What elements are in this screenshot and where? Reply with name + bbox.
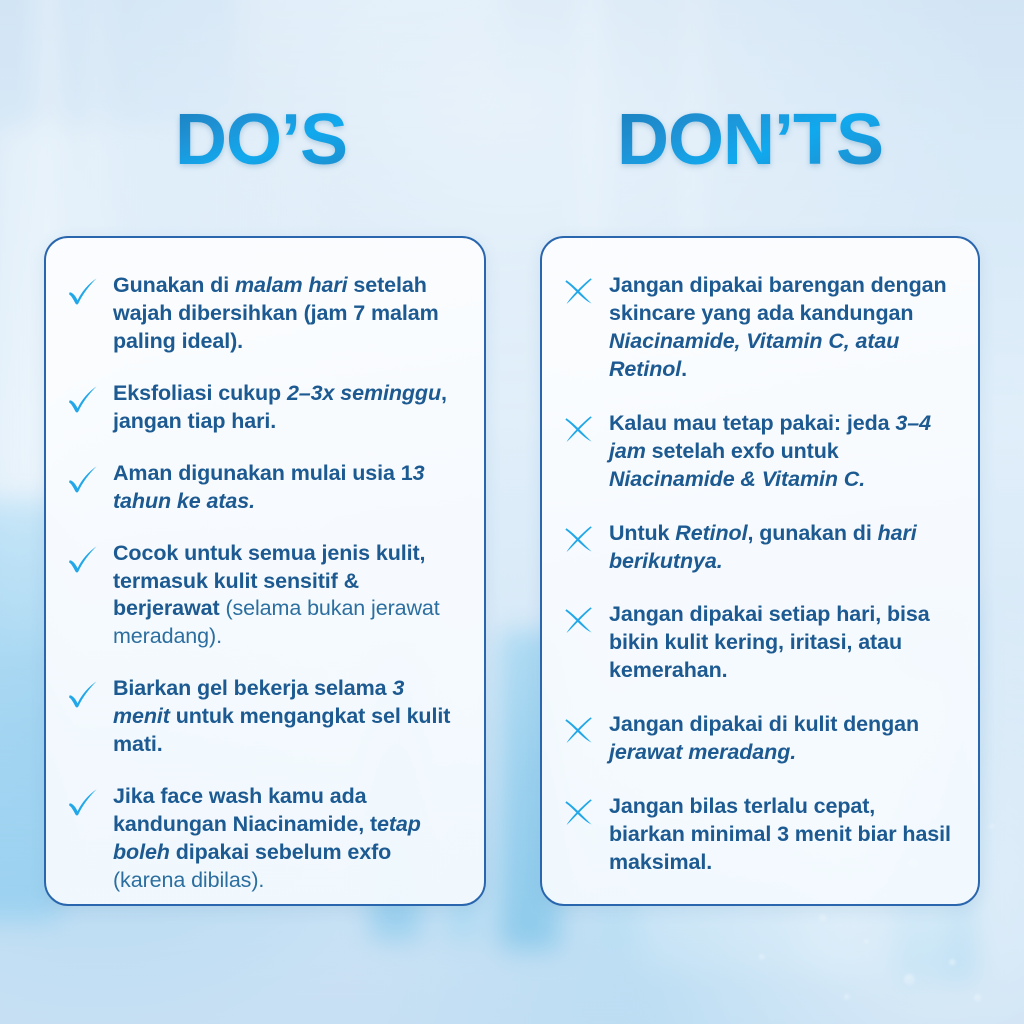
list-item: Jangan bilas terlalu cepat, biarkan mini… — [562, 793, 952, 877]
list-item: Gunakan di malam hari setelah wajah dibe… — [66, 272, 458, 356]
list-item-text: Jangan dipakai barengan dengan skincare … — [609, 272, 952, 384]
donts-heading: DON’TS — [617, 104, 883, 176]
check-icon — [66, 382, 100, 416]
cross-icon — [562, 412, 596, 446]
list-item: Jika face wash kamu ada kandungan Niacin… — [66, 783, 458, 895]
list-item: Biarkan gel bekerja selama 3 menit untuk… — [66, 675, 458, 759]
list-item: Cocok untuk semua jenis kulit, termasuk … — [66, 540, 458, 652]
list-item: Untuk Retinol, gunakan di hari berikutny… — [562, 520, 952, 576]
cross-icon — [562, 603, 596, 637]
cross-icon — [562, 274, 596, 308]
list-item: Jangan dipakai di kulit dengan jerawat m… — [562, 711, 952, 767]
check-icon — [66, 677, 100, 711]
list-item-text: Jangan dipakai di kulit dengan jerawat m… — [609, 711, 952, 767]
list-item-text: Gunakan di malam hari setelah wajah dibe… — [113, 272, 458, 356]
dos-heading: DO’S — [175, 104, 347, 176]
donts-card: Jangan dipakai barengan dengan skincare … — [540, 236, 980, 906]
list-item-text: Jangan dipakai setiap hari, bisa bikin k… — [609, 601, 952, 685]
list-item-text: Jangan bilas terlalu cepat, biarkan mini… — [609, 793, 952, 877]
donts-list: Jangan dipakai barengan dengan skincare … — [562, 272, 952, 903]
list-item: Jangan dipakai setiap hari, bisa bikin k… — [562, 601, 952, 685]
list-item-text: Cocok untuk semua jenis kulit, termasuk … — [113, 540, 458, 652]
list-item: Kalau mau tetap pakai: jeda 3–4 jam sete… — [562, 410, 952, 494]
cross-icon — [562, 795, 596, 829]
list-item-text: Kalau mau tetap pakai: jeda 3–4 jam sete… — [609, 410, 952, 494]
cross-icon — [562, 713, 596, 747]
list-item: Eksfoliasi cukup 2–3x seminggu, jangan t… — [66, 380, 458, 436]
list-item: Aman digunakan mulai usia 13 tahun ke at… — [66, 460, 458, 516]
list-item-text: Jika face wash kamu ada kandungan Niacin… — [113, 783, 458, 895]
list-item-text: Untuk Retinol, gunakan di hari berikutny… — [609, 520, 952, 576]
check-icon — [66, 462, 100, 496]
list-item-text: Biarkan gel bekerja selama 3 menit untuk… — [113, 675, 458, 759]
dos-card: Gunakan di malam hari setelah wajah dibe… — [44, 236, 486, 906]
check-icon — [66, 274, 100, 308]
list-item-text: Aman digunakan mulai usia 13 tahun ke at… — [113, 460, 458, 516]
check-icon — [66, 785, 100, 819]
headings-row: DO’S DON’TS — [0, 104, 1024, 194]
list-item-text: Eksfoliasi cukup 2–3x seminggu, jangan t… — [113, 380, 458, 436]
list-item: Jangan dipakai barengan dengan skincare … — [562, 272, 952, 384]
poster-canvas: DO’S DON’TS Gunakan di malam hari setela… — [0, 0, 1024, 1024]
dos-list: Gunakan di malam hari setelah wajah dibe… — [66, 272, 458, 895]
check-icon — [66, 542, 100, 576]
cross-icon — [562, 522, 596, 556]
